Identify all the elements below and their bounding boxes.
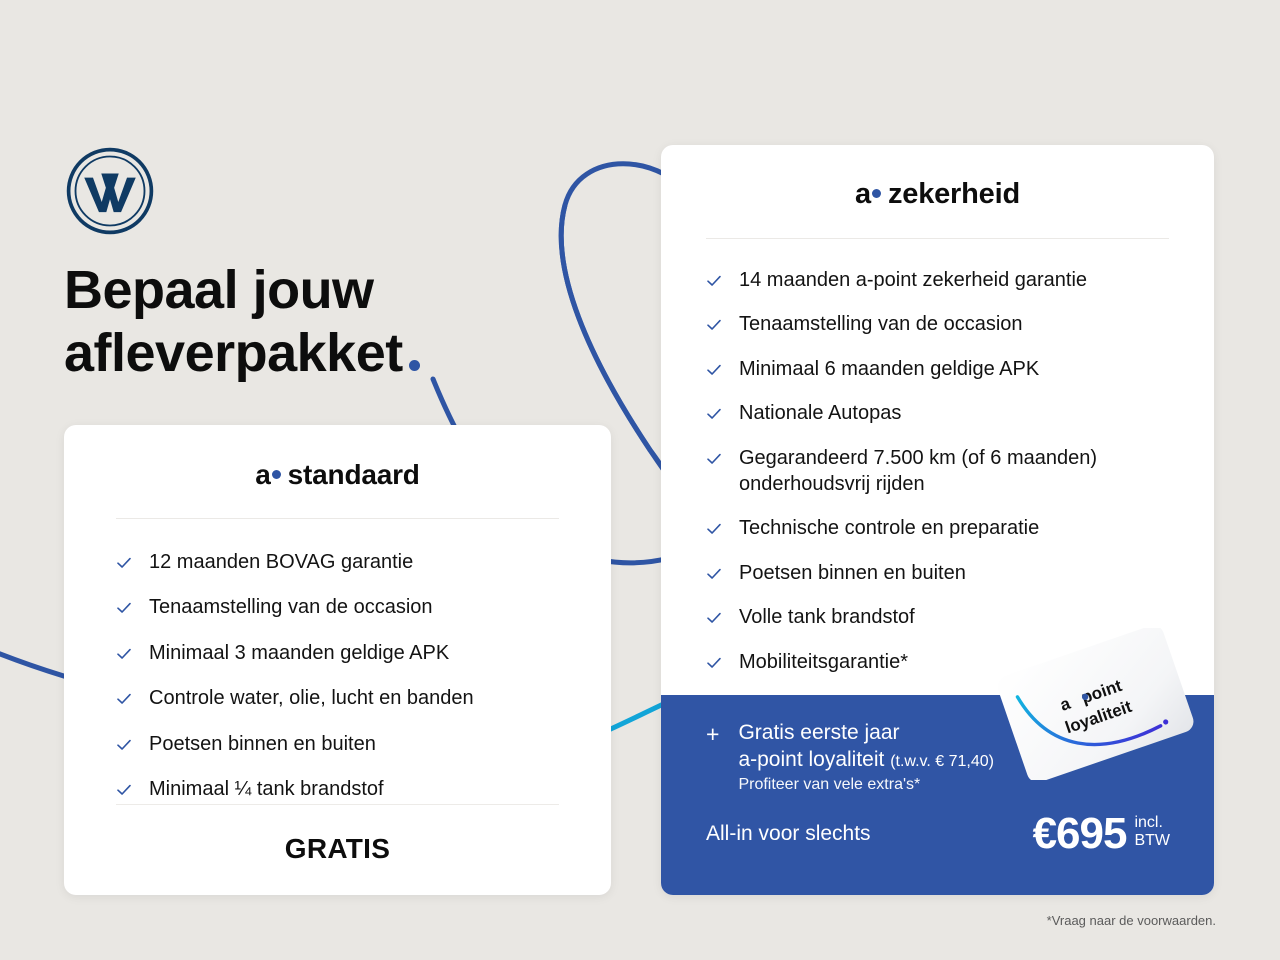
list-item-label: Poetsen binnen en buiten <box>739 560 966 586</box>
list-item: Mobiliteitsgarantie* <box>706 649 1178 675</box>
headline-text: Bepaal jouw afleverpakket <box>64 260 403 383</box>
list-item: Gegarandeerd 7.500 km (of 6 maanden) ond… <box>706 445 1178 498</box>
disclaimer-text: *Vraag naar de voorwaarden. <box>1047 913 1216 928</box>
check-icon <box>116 782 132 798</box>
list-item: Poetsen binnen en buiten <box>706 560 1178 586</box>
check-icon <box>706 451 722 467</box>
bonus-line-1: Gratis eerste jaar <box>738 719 994 746</box>
price-suffix: incl. BTW <box>1134 814 1170 850</box>
package-card-zekerheid[interactable]: azekerheid 14 maanden a-point zekerheid … <box>661 145 1214 895</box>
check-icon <box>706 610 722 626</box>
check-icon <box>116 691 132 707</box>
bonus-value: (t.w.v. € 71,40) <box>890 753 994 770</box>
list-item-label: Controle water, olie, lucht en banden <box>149 685 474 711</box>
page-title: Bepaal jouw afleverpakket <box>64 259 420 385</box>
package-card-standaard[interactable]: astandaard 12 maanden BOVAG garantieTena… <box>64 425 611 895</box>
list-item-label: Mobiliteitsgarantie* <box>739 649 908 675</box>
card-title-standaard: astandaard <box>64 425 611 491</box>
list-item-label: Nationale Autopas <box>739 400 901 426</box>
list-item: Tenaamstelling van de occasion <box>116 594 571 620</box>
list-item: 12 maanden BOVAG garantie <box>116 549 571 575</box>
check-icon <box>706 273 722 289</box>
check-icon <box>706 317 722 333</box>
list-item-label: Minimaal ¼ tank brandstof <box>149 776 384 802</box>
apoint-dot-icon <box>872 189 881 198</box>
list-item-label: Volle tank brandstof <box>739 604 915 630</box>
price-label: All-in voor slechts <box>706 822 871 846</box>
list-item: Minimaal 6 maanden geldige APK <box>706 356 1178 382</box>
price-amount: €695 <box>1033 812 1127 856</box>
list-item-label: Tenaamstelling van de occasion <box>739 311 1023 337</box>
card-title-prefix: a <box>855 178 871 210</box>
volkswagen-logo <box>64 145 156 237</box>
bonus-text-block: Gratis eerste jaar a-point loyaliteit (t… <box>738 719 994 794</box>
card-title-prefix: a <box>255 459 270 490</box>
plus-icon: + <box>706 723 719 746</box>
feature-list-standaard: 12 maanden BOVAG garantieTenaamstelling … <box>64 519 611 802</box>
feature-list-zekerheid: 14 maanden a-point zekerheid garantieTen… <box>661 239 1214 675</box>
list-item: Minimaal ¼ tank brandstof <box>116 776 571 802</box>
list-item: Tenaamstelling van de occasion <box>706 311 1178 337</box>
check-icon <box>706 362 722 378</box>
list-item: Technische controle en preparatie <box>706 515 1178 541</box>
price-row: All-in voor slechts €695 incl. BTW <box>661 794 1214 856</box>
bonus-row: + Gratis eerste jaar a-point loyaliteit … <box>661 695 1214 794</box>
promo-page: Bepaal jouw afleverpakket astandaard 12 … <box>0 0 1280 960</box>
list-item: Poetsen binnen en buiten <box>116 731 571 757</box>
card-footer-divider <box>116 804 559 805</box>
list-item-label: Minimaal 6 maanden geldige APK <box>739 356 1039 382</box>
bonus-line-2: a-point loyaliteit (t.w.v. € 71,40) <box>738 746 994 773</box>
card-title-text: zekerheid <box>888 178 1020 210</box>
list-item: Controle water, olie, lucht en banden <box>116 685 571 711</box>
bonus-note: Profiteer van vele extra's* <box>738 776 994 794</box>
check-icon <box>116 600 132 616</box>
list-item-label: 14 maanden a-point zekerheid garantie <box>739 267 1087 293</box>
check-icon <box>706 566 722 582</box>
price-standaard: GRATIS <box>64 833 611 865</box>
apoint-dot-icon <box>272 470 281 479</box>
bonus-program-name: a-point loyaliteit <box>738 748 884 771</box>
check-icon <box>116 646 132 662</box>
card-title-text: standaard <box>288 459 420 490</box>
check-icon <box>706 521 722 537</box>
check-icon <box>116 737 132 753</box>
list-item-label: 12 maanden BOVAG garantie <box>149 549 413 575</box>
check-icon <box>706 406 722 422</box>
list-item-label: Gegarandeerd 7.500 km (of 6 maanden) ond… <box>739 445 1178 498</box>
check-icon <box>116 555 132 571</box>
list-item: Volle tank brandstof <box>706 604 1178 630</box>
list-item-label: Poetsen binnen en buiten <box>149 731 376 757</box>
card-title-zekerheid: azekerheid <box>661 145 1214 211</box>
check-icon <box>706 655 722 671</box>
list-item: 14 maanden a-point zekerheid garantie <box>706 267 1178 293</box>
list-item: Minimaal 3 maanden geldige APK <box>116 640 571 666</box>
price-panel: + Gratis eerste jaar a-point loyaliteit … <box>661 695 1214 895</box>
list-item: Nationale Autopas <box>706 400 1178 426</box>
price-amount-wrap: €695 incl. BTW <box>1033 812 1170 856</box>
list-item-label: Minimaal 3 maanden geldige APK <box>149 640 449 666</box>
list-item-label: Tenaamstelling van de occasion <box>149 594 433 620</box>
brand-block: Bepaal jouw afleverpakket <box>64 145 420 385</box>
headline-dot <box>409 360 420 371</box>
list-item-label: Technische controle en preparatie <box>739 515 1039 541</box>
